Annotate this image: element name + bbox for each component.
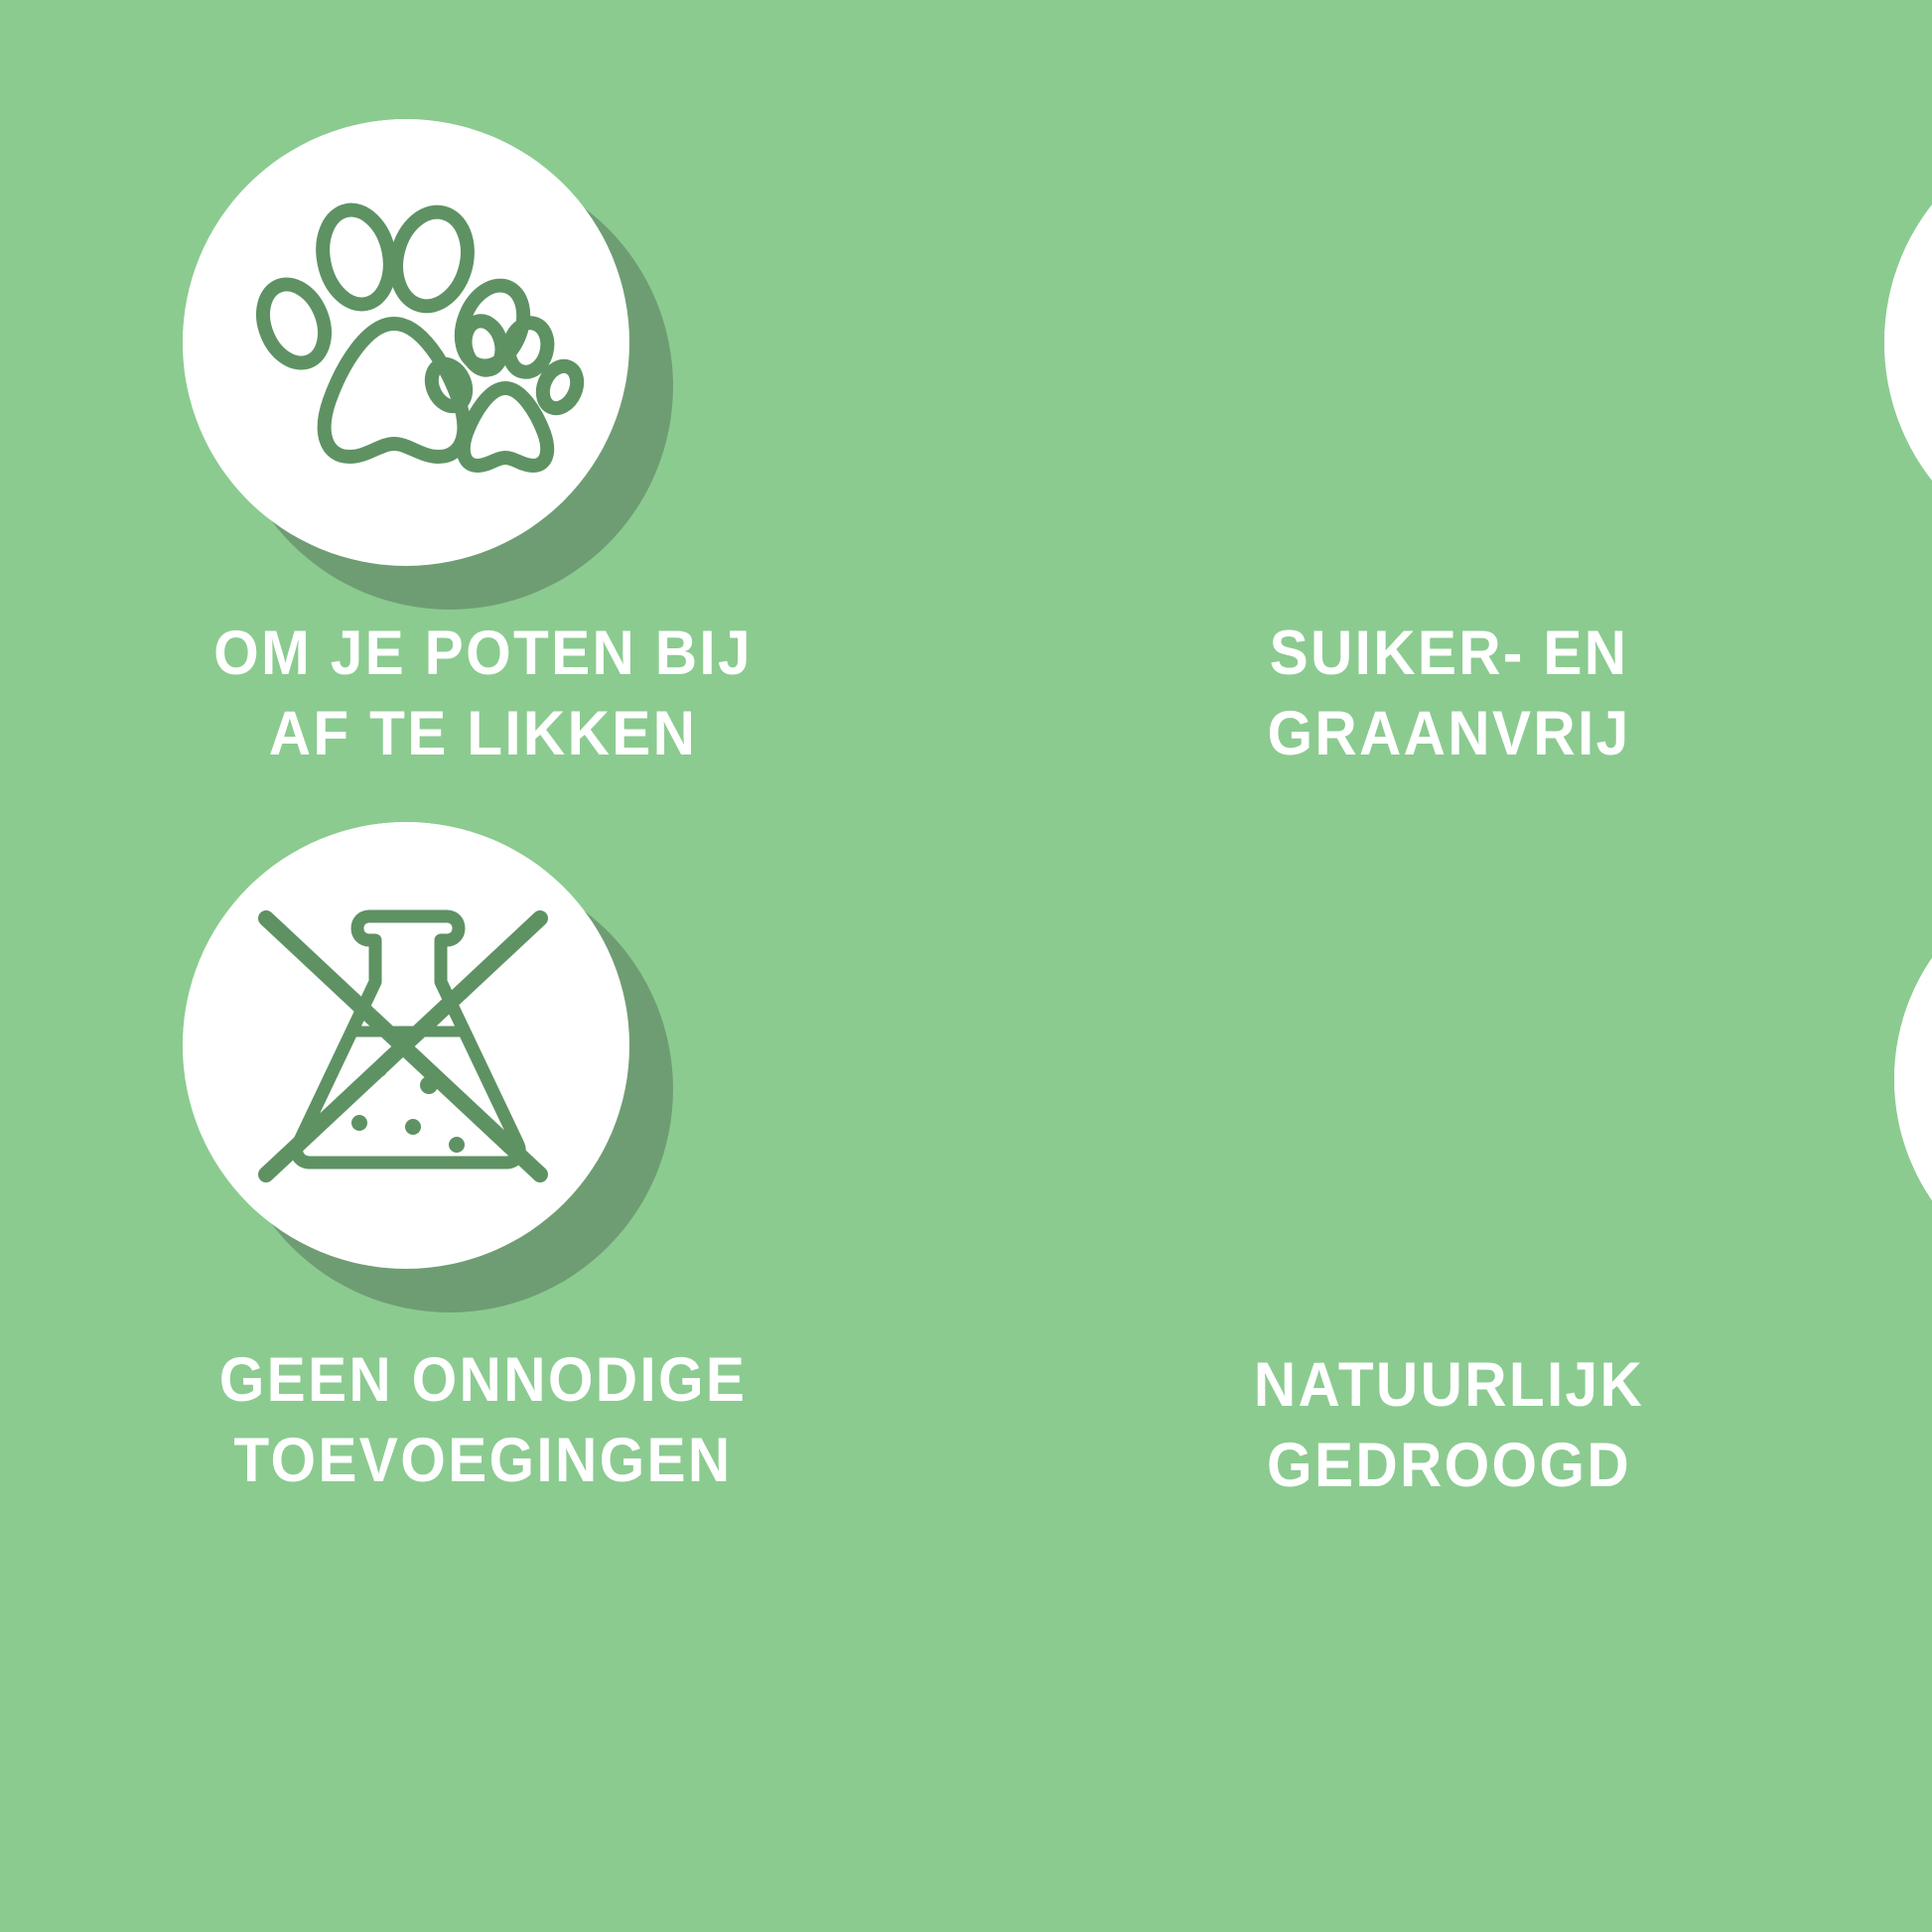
caption-line-2: TOEVOEGINGEN [34, 1421, 932, 1501]
paw-prints-icon [183, 119, 629, 566]
caption-line-1: OM JE POTEN BIJ [34, 614, 932, 694]
caption-sugar-grain-free: SUIKER- EN GRAANVRIJ [1000, 614, 1898, 773]
feature-badge-grid: OM JE POTEN BIJ AF TE LIKKEN [0, 0, 1932, 1932]
caption-line-1: SUIKER- EN [1000, 614, 1898, 694]
caption-line-2: GEDROOGD [1000, 1426, 1898, 1506]
caption-line-2: GRAANVRIJ [1000, 694, 1898, 774]
feature-card-no-additives: GEEN ONNODIGE TOEVOEGINGEN [0, 794, 966, 1886]
cross-out-lines [266, 918, 540, 1174]
badge-circle-no-additives [183, 822, 629, 1269]
caption-no-additives: GEEN ONNODIGE TOEVOEGINGEN [34, 1340, 932, 1500]
feature-card-air-dried: NATUURLIJK GEDROOGD [966, 794, 1932, 1886]
no-sugar-no-grain-icon [1884, 119, 1932, 566]
no-chemicals-flask-icon [183, 822, 629, 1269]
caption-line-1: NATUURLIJK [1000, 1345, 1898, 1426]
caption-air-dried: NATUURLIJK GEDROOGD [1000, 1345, 1898, 1505]
badge-circle-paws [183, 119, 629, 566]
badge-circle-air-dried [1894, 866, 1932, 1293]
caption-line-2: AF TE LIKKEN [34, 694, 932, 774]
caption-paws: OM JE POTEN BIJ AF TE LIKKEN [34, 614, 932, 773]
happy-dog-heart-icon [1894, 866, 1932, 1293]
caption-line-1: GEEN ONNODIGE [34, 1340, 932, 1421]
badge-circle-sugar-grain-free [1884, 119, 1932, 566]
